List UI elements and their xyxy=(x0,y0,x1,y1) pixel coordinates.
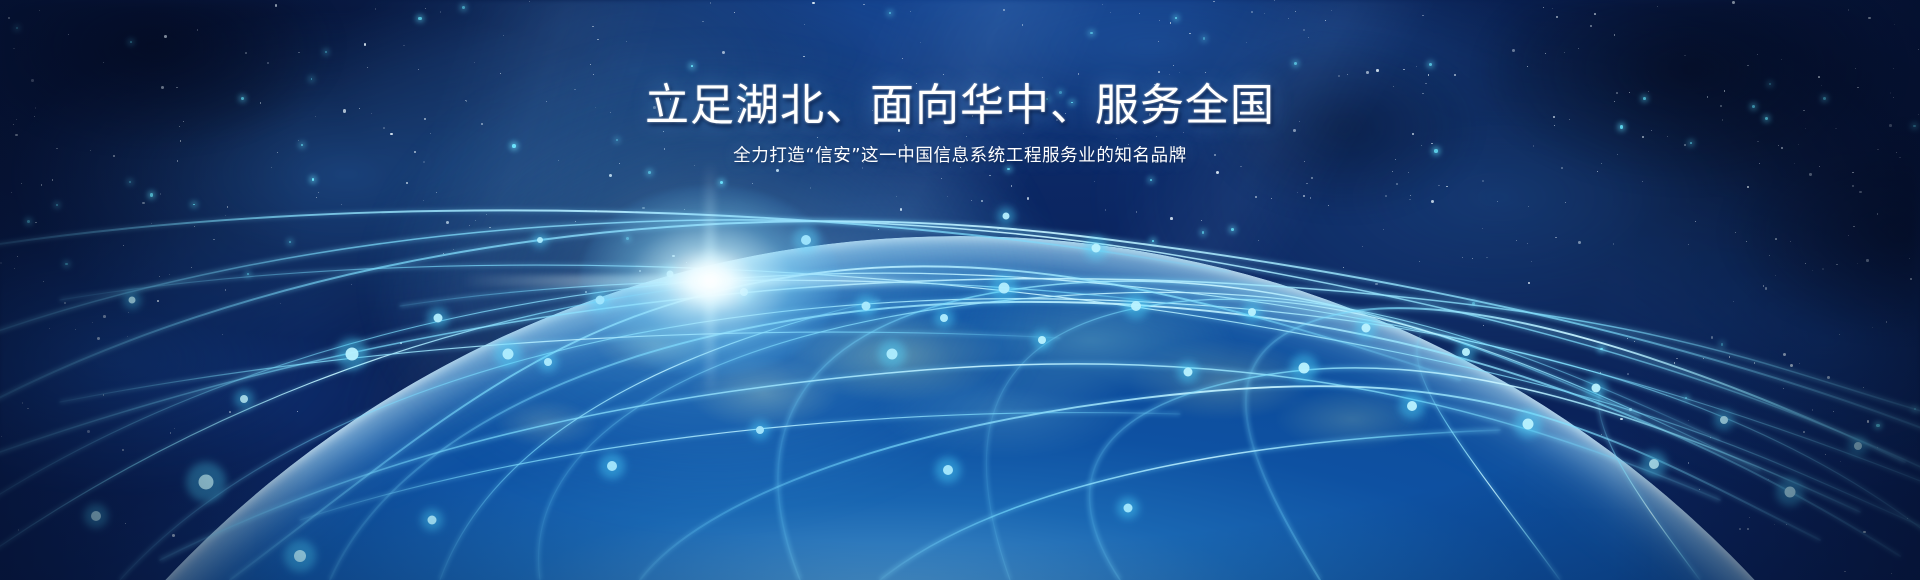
network-node xyxy=(1362,324,1371,333)
network-node xyxy=(943,465,953,475)
network-arc-glow xyxy=(880,430,1500,580)
banner-copy: 立足湖北、面向华中、服务全国 全力打造“信安”这一中国信息系统工程服务业的知名品… xyxy=(0,82,1920,167)
network-node xyxy=(1299,363,1310,374)
network-node xyxy=(1407,401,1417,411)
network-node xyxy=(428,516,437,525)
network-node xyxy=(1248,308,1256,316)
network-node xyxy=(1462,348,1470,356)
banner-subheadline: 全力打造“信安”这一中国信息系统工程服务业的知名品牌 xyxy=(0,146,1920,167)
network-node xyxy=(129,297,136,304)
network-node xyxy=(91,511,101,521)
network-node xyxy=(1785,487,1796,498)
network-node xyxy=(240,395,248,403)
network-node xyxy=(1720,416,1728,424)
network-node xyxy=(1131,301,1141,311)
burst-core xyxy=(580,186,840,376)
network-node xyxy=(346,348,359,361)
network-node xyxy=(1649,459,1659,469)
network-node xyxy=(1038,336,1046,344)
network-node xyxy=(1523,419,1534,430)
network-node xyxy=(1184,368,1193,377)
banner-headline: 立足湖北、面向华中、服务全国 xyxy=(0,82,1920,130)
network-node xyxy=(199,475,214,490)
network-node xyxy=(1592,384,1601,393)
network-node xyxy=(1124,504,1133,513)
network-arc xyxy=(880,430,1500,580)
network-node xyxy=(1092,244,1101,253)
network-node xyxy=(294,550,306,562)
hero-banner: 立足湖北、面向华中、服务全国 全力打造“信安”这一中国信息系统工程服务业的知名品… xyxy=(0,0,1920,580)
network-node xyxy=(1854,442,1862,450)
